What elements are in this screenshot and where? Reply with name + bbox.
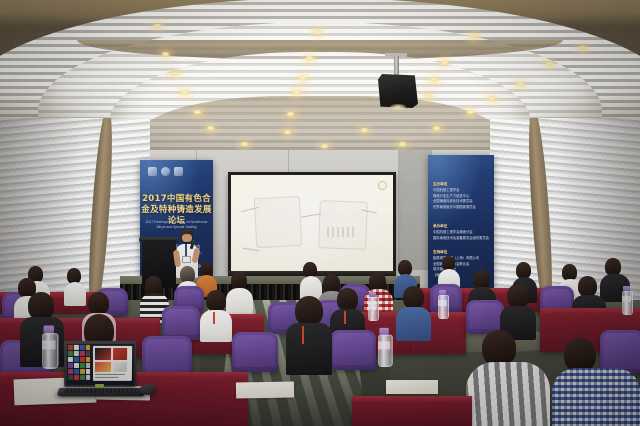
ceiling-downlight (206, 126, 215, 131)
person-head (337, 288, 358, 311)
slide-thumbnail[interactable] (85, 345, 90, 350)
ceiling-downlight (470, 34, 479, 39)
slide-thumbnail[interactable] (74, 351, 79, 356)
water-bottle (438, 290, 447, 319)
slide-thumbnail[interactable] (74, 363, 79, 368)
foreground-table-right (352, 396, 472, 426)
ceiling-downlight (578, 46, 587, 51)
slide-thumbnail[interactable] (80, 345, 85, 350)
slide-thumbnail[interactable] (80, 363, 85, 368)
slide-image (113, 347, 127, 359)
person-torso (226, 288, 253, 316)
chair (330, 330, 376, 370)
bottle-body (622, 291, 633, 315)
ceiling-downlight (430, 78, 439, 83)
projection-screen (228, 172, 396, 274)
badge-lanyard (302, 326, 304, 344)
banner-hosts-section: 承办单位 中国机械工程学会铸造分会 国际铸造技术及装备展览会组织委员会 (433, 223, 490, 241)
person-head (482, 330, 516, 366)
ceiling-downlight (313, 30, 322, 35)
person-head (578, 276, 597, 297)
ceiling-downlight (398, 142, 407, 147)
slide-text-line (95, 373, 125, 374)
badge-lanyard (344, 311, 346, 324)
laptop-display[interactable] (66, 343, 133, 384)
ceiling-downlight (487, 96, 496, 101)
banner-organizers-section: 主办单位 中国机械工程学会 铸造行业生产力促进中心 全国铸造标准化技术委员会 世… (433, 181, 490, 210)
laptop-indicator-light (95, 384, 104, 387)
slide-thumbnail[interactable] (86, 357, 91, 362)
projector-lens-glow (390, 104, 406, 110)
ceiling-downlight (292, 90, 301, 95)
ceiling-downlight (440, 60, 449, 65)
organizer-row: 世界铸造组织中国国家委员会 (433, 205, 490, 211)
slide-corner-indicator (378, 181, 387, 190)
chair (162, 306, 200, 340)
banner-title-english: 2017 Development Forum on Nonferrous All… (144, 220, 209, 230)
host-row: 国际铸造技术及装备展览会组织委员会 (433, 236, 490, 242)
chair (466, 300, 504, 334)
person-head (88, 292, 109, 315)
ceiling-downlight (193, 110, 202, 115)
water-bottle (368, 292, 377, 321)
ceiling-downlight (180, 90, 189, 95)
ceiling-downlight (153, 24, 162, 29)
person-head (206, 290, 226, 312)
bottle-label (622, 296, 631, 302)
presenter-badge (182, 256, 191, 263)
person-head (507, 284, 529, 308)
slide-detail (327, 227, 355, 237)
slide-thumbnail[interactable] (68, 345, 73, 350)
ceiling-projector (378, 74, 418, 108)
organizer-logo-icon (161, 167, 170, 176)
person-torso (200, 310, 232, 342)
presenter-face (182, 234, 192, 242)
bottle-label (378, 341, 390, 349)
slide-thumbnail[interactable] (68, 357, 73, 362)
slide-thumbnail[interactable] (74, 375, 79, 380)
laptop-slide-canvas[interactable] (93, 345, 132, 380)
laptop-screen-lid[interactable] (64, 341, 137, 387)
slide-thumbnail[interactable] (80, 375, 85, 380)
chair (232, 332, 278, 372)
banner-logo-row (148, 167, 183, 176)
person-torso (552, 368, 640, 426)
slide-image (95, 362, 111, 372)
water-bottle (378, 328, 390, 367)
slide-thumbnail[interactable] (68, 375, 73, 380)
badge-lanyard (213, 312, 215, 324)
person-head (295, 296, 323, 326)
conference-hall-photo: 2017中国有色合金及特种铸造发展论坛 2017 Development For… (0, 0, 640, 426)
slide-thumbnail[interactable] (80, 357, 85, 362)
slide-thumbnail[interactable] (68, 363, 73, 368)
slide-thumbnail[interactable] (68, 351, 73, 356)
water-bottle (622, 286, 631, 315)
person-head (28, 292, 54, 320)
paper-handout (386, 380, 438, 394)
bottle-body (378, 335, 393, 367)
organizer-logo-icon (174, 167, 183, 176)
ceiling-downlight (283, 130, 292, 135)
slide-diagram-right (318, 200, 368, 250)
slide-thumbnail-panel[interactable] (66, 343, 92, 384)
bottle-body (42, 333, 59, 369)
person-torso (466, 362, 550, 426)
person-head (403, 286, 424, 309)
slide-thumbnail[interactable] (86, 351, 91, 356)
ceiling-downlight (516, 82, 525, 87)
bottle-label (368, 302, 377, 308)
computer-mouse[interactable] (140, 384, 157, 395)
person-torso (64, 282, 86, 306)
slide-thumbnail[interactable] (68, 369, 73, 374)
supporters-heading: 支持单位 (433, 249, 490, 255)
slide-image (95, 347, 111, 359)
ceiling-downlight (161, 52, 170, 57)
slide-thumbnail[interactable] (86, 363, 91, 368)
organizers-heading: 主办单位 (433, 181, 490, 187)
slide-thumbnail[interactable] (80, 351, 85, 356)
bottle-label (42, 341, 56, 350)
bottle-cap (379, 328, 388, 335)
back-wall-panel (398, 150, 432, 270)
slide-thumbnail[interactable] (86, 369, 91, 374)
slide-thumbnail[interactable] (74, 345, 79, 350)
bottle-cap (44, 326, 55, 334)
ceiling-downlight (545, 62, 554, 67)
paper-handout (236, 381, 294, 398)
ceiling-downlight (240, 142, 249, 147)
slide-thumbnail[interactable] (86, 375, 91, 380)
ceiling-downlight (432, 126, 441, 131)
ceiling-downlight (286, 112, 295, 117)
ceiling-downlight (466, 110, 475, 115)
laptop-keyboard[interactable] (63, 389, 136, 394)
person-torso (286, 323, 332, 375)
ceiling-downlight (170, 72, 179, 77)
table-edge (352, 396, 472, 401)
ceiling-downlight (360, 128, 369, 133)
ceiling-downlight (320, 144, 329, 149)
slide-diagram-left (254, 196, 303, 248)
ceiling-downlight (298, 76, 307, 81)
water-bottle (42, 326, 56, 370)
ceiling-downlight (424, 94, 433, 99)
slide-thumbnail[interactable] (74, 357, 79, 362)
person-torso (396, 307, 431, 341)
organizer-logo-icon (148, 167, 157, 176)
bottle-body (438, 295, 449, 319)
projection-screen-surface (231, 175, 393, 271)
slide-thumbnail[interactable] (80, 369, 85, 374)
person-head (564, 338, 596, 372)
slide-thumbnail[interactable] (74, 369, 79, 374)
bottle-label (438, 300, 447, 306)
slide-text-line (95, 376, 119, 377)
ceiling-downlight (305, 56, 314, 61)
bottle-body (368, 297, 379, 321)
hosts-heading: 承办单位 (433, 223, 490, 229)
slide-image (113, 362, 127, 372)
